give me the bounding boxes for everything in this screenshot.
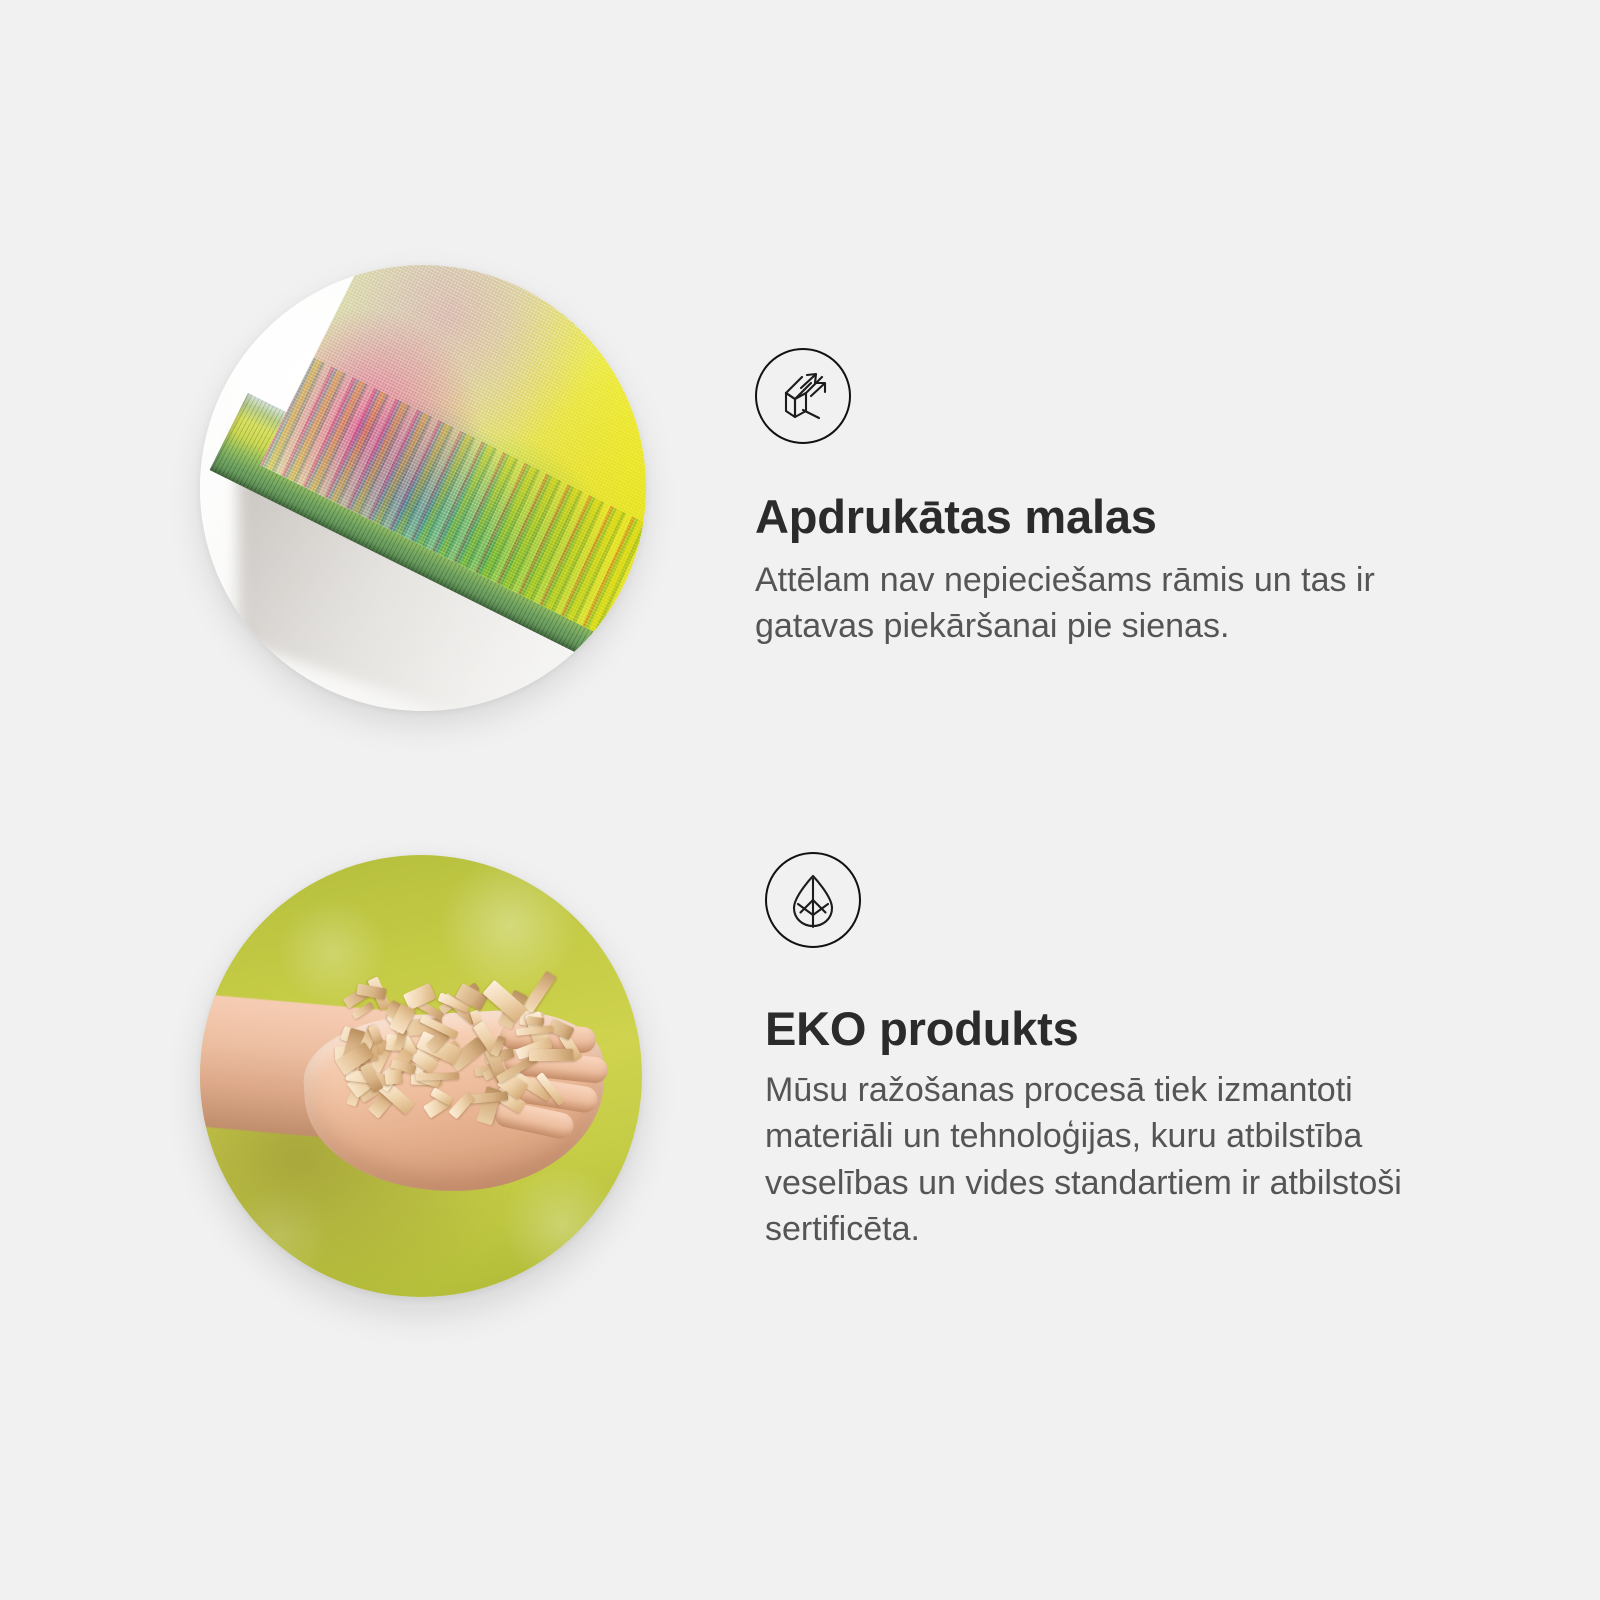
feature-title: EKO produkts [765, 1004, 1600, 1055]
hands-with-wood-chips-photo [200, 855, 642, 1297]
feature-highlights-page: Apdrukātas malas Attēlam nav nepieciešam… [0, 0, 1600, 1600]
feature-text-column: Apdrukātas malas Attēlam nav nepieciešam… [740, 240, 1600, 650]
wood-chip [522, 971, 556, 1013]
feature-block-eco-product: EKO produkts Mūsu ražošanas procesā tiek… [0, 830, 1600, 1330]
feature-title: Apdrukātas malas [755, 492, 1600, 543]
wood-chip [526, 1016, 543, 1026]
feature-block-printed-edges: Apdrukātas malas Attēlam nav nepieciešam… [0, 240, 1600, 740]
feature-media-column [0, 830, 740, 1330]
feature-text-column: EKO produkts Mūsu ražošanas procesā tiek… [740, 830, 1600, 1253]
feature-description: Mūsu ražošanas procesā tiek izmantoti ma… [765, 1067, 1470, 1253]
wood-chip [449, 1091, 475, 1119]
wood-chip [384, 1069, 403, 1085]
feature-description: Attēlam nav nepieciešams rāmis un tas ir… [755, 557, 1460, 650]
canvas-wrapped-edges-icon [755, 348, 851, 444]
wood-chips-pile [342, 983, 580, 1119]
feature-media-column [0, 240, 740, 740]
leaf-icon [765, 852, 861, 948]
wood-chip [529, 1048, 573, 1060]
canvas-corner-photo [200, 265, 646, 711]
wood-chip [416, 1072, 459, 1081]
